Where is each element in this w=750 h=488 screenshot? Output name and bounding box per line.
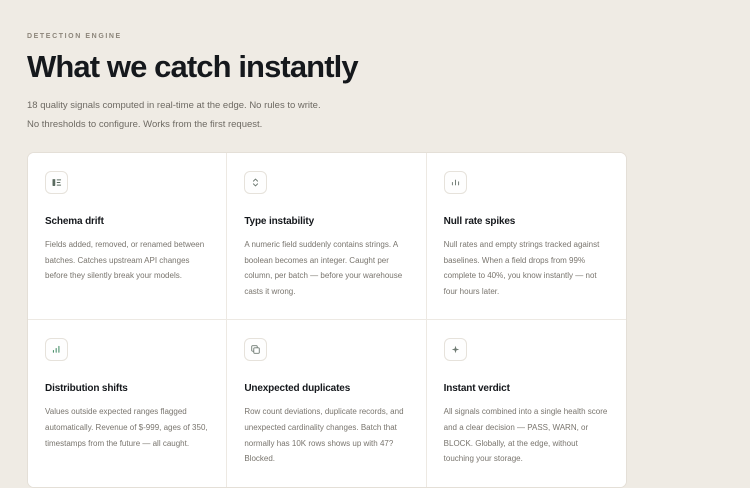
page-subtitle: 18 quality signals computed in real-time… [27, 97, 327, 134]
card-body: Fields added, removed, or renamed betwee… [45, 237, 209, 284]
card-body: All signals combined into a single healt… [444, 404, 609, 466]
card-title: Null rate spikes [444, 216, 609, 228]
card-title: Instant verdict [444, 383, 609, 395]
feature-card-type-instability[interactable]: Type instability A numeric field suddenl… [227, 153, 426, 320]
card-body: Null rates and empty strings tracked aga… [444, 237, 609, 299]
feature-card-schema-drift[interactable]: Schema drift Fields added, removed, or r… [28, 153, 227, 320]
sort-updown-icon [244, 171, 267, 194]
card-title: Type instability [244, 216, 408, 228]
feature-card-null-rate-spikes[interactable]: Null rate spikes Null rates and empty st… [427, 153, 626, 320]
sparkle-verdict-icon [444, 338, 467, 361]
card-body: Values outside expected ranges flagged a… [45, 404, 209, 451]
distribution-bars-icon [45, 338, 68, 361]
section-eyebrow: DETECTION ENGINE [27, 33, 750, 40]
schema-columns-icon [45, 171, 68, 194]
card-title: Unexpected duplicates [244, 383, 408, 395]
card-body: Row count deviations, duplicate records,… [244, 404, 408, 466]
card-body: A numeric field suddenly contains string… [244, 237, 408, 299]
page-title: What we catch instantly [27, 50, 750, 83]
features-grid: Schema drift Fields added, removed, or r… [27, 152, 627, 488]
page-root: DETECTION ENGINE What we catch instantly… [0, 0, 750, 462]
card-title: Distribution shifts [45, 383, 209, 395]
copy-duplicate-icon [244, 338, 267, 361]
card-title: Schema drift [45, 216, 209, 228]
bar-chart-icon [444, 171, 467, 194]
